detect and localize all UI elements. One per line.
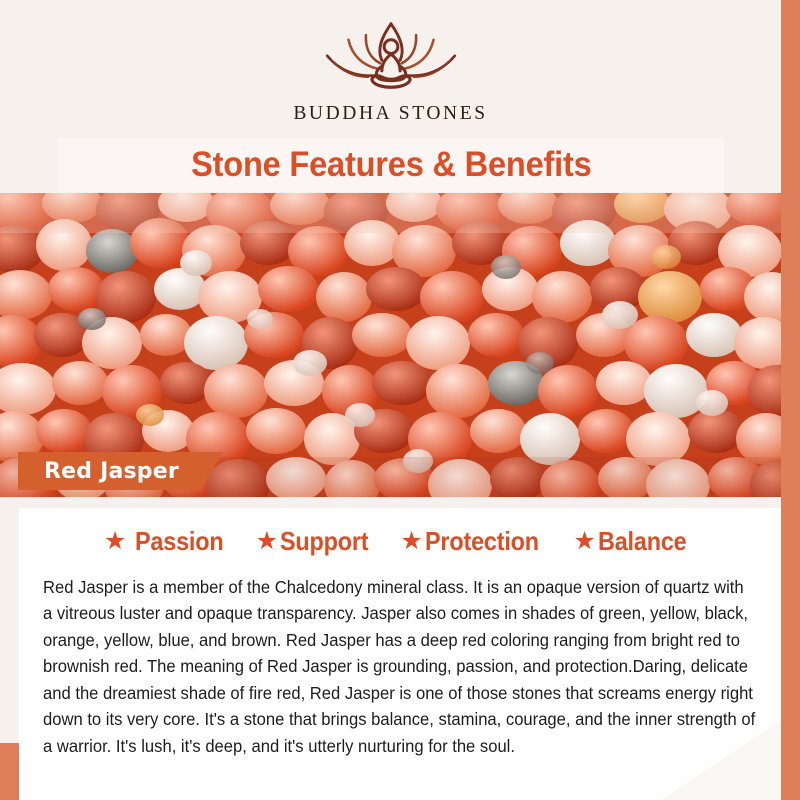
- title-banner: Stone Features & Benefits: [58, 138, 724, 192]
- benefit-item-protection: ★ Protection: [400, 526, 551, 557]
- benefit-item-passion: ★ Passion: [104, 526, 234, 557]
- stone-name-badge: Red Jasper: [18, 452, 223, 490]
- benefit-label: Support: [280, 526, 368, 557]
- benefit-item-support: ★ Support: [256, 526, 379, 557]
- page-title: Stone Features & Benefits: [191, 145, 592, 185]
- benefit-item-balance: ★ Balance: [573, 526, 696, 557]
- benefit-label: Passion: [135, 526, 223, 557]
- star-icon: ★: [573, 529, 595, 554]
- photo-bottom-strip: [0, 497, 781, 508]
- brand-header: BUDDHA STONES: [0, 0, 781, 143]
- star-icon: ★: [104, 529, 126, 554]
- infographic-card: BUDDHA STONES Stone Features & Benefits: [0, 0, 800, 800]
- benefit-label: Balance: [598, 526, 686, 557]
- lotus-meditation-figure-icon: [315, 16, 467, 100]
- brand-wordmark: BUDDHA STONES: [293, 103, 487, 125]
- star-icon: ★: [400, 529, 422, 554]
- benefits-row: ★ Passion ★ Support ★ Protection ★ Balan…: [43, 522, 757, 560]
- content-panel: ★ Passion ★ Support ★ Protection ★ Balan…: [19, 508, 781, 800]
- benefit-label: Protection: [425, 526, 539, 557]
- description-text: Red Jasper is a member of the Chalcedony…: [43, 574, 757, 759]
- stone-name-label: Red Jasper: [44, 459, 179, 484]
- red-jasper-stones-photo: [0, 193, 781, 497]
- star-icon: ★: [256, 529, 278, 554]
